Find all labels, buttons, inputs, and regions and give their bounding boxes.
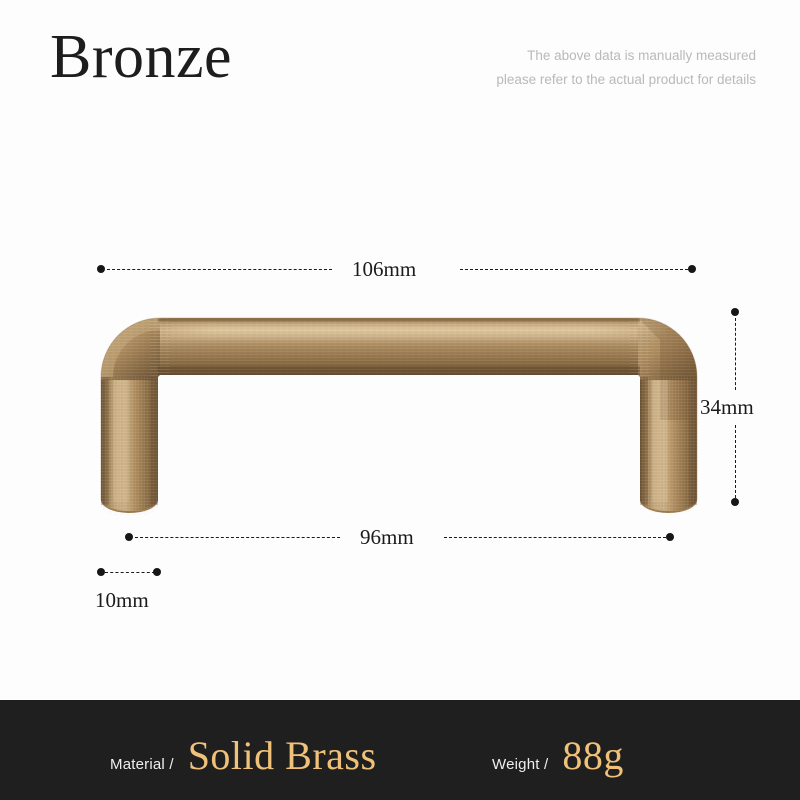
dim34-line-bottom [735,425,736,498]
dim-dot-right [688,265,696,273]
dim34-line-top [735,318,736,390]
dim34-dot-top [731,308,739,316]
spec-weight-label: Weight / [492,756,548,773]
dim96-dot-left [125,533,133,541]
brushed-texture [95,315,705,515]
spec-material: Material / Solid Brass [110,732,377,779]
dim-label-overall-length: 106mm [352,257,416,282]
dim-label-bar-diameter: 10mm [95,588,149,613]
dim10-line [105,572,155,573]
dim10-dot-right [153,568,161,576]
spec-weight: Weight / 88g [492,732,624,779]
dim-label-projection-height: 34mm [700,395,754,420]
spec-weight-value: 88g [562,732,624,779]
spec-material-value: Solid Brass [188,732,377,779]
dim10-dot-left [97,568,105,576]
spec-footer-bar: Material / Solid Brass Weight / 88g [0,700,800,800]
dim-line-right [460,269,688,270]
product-spec-image: Bronze The above data is manually measur… [0,0,800,800]
dim-line-left [107,269,332,270]
dim34-dot-bottom [731,498,739,506]
spec-material-label: Material / [110,756,174,773]
dim96-line-left [135,537,340,538]
dim-dot-left [97,265,105,273]
dim-label-center-to-center: 96mm [360,525,414,550]
dim96-dot-right [666,533,674,541]
dim96-line-right [444,537,666,538]
